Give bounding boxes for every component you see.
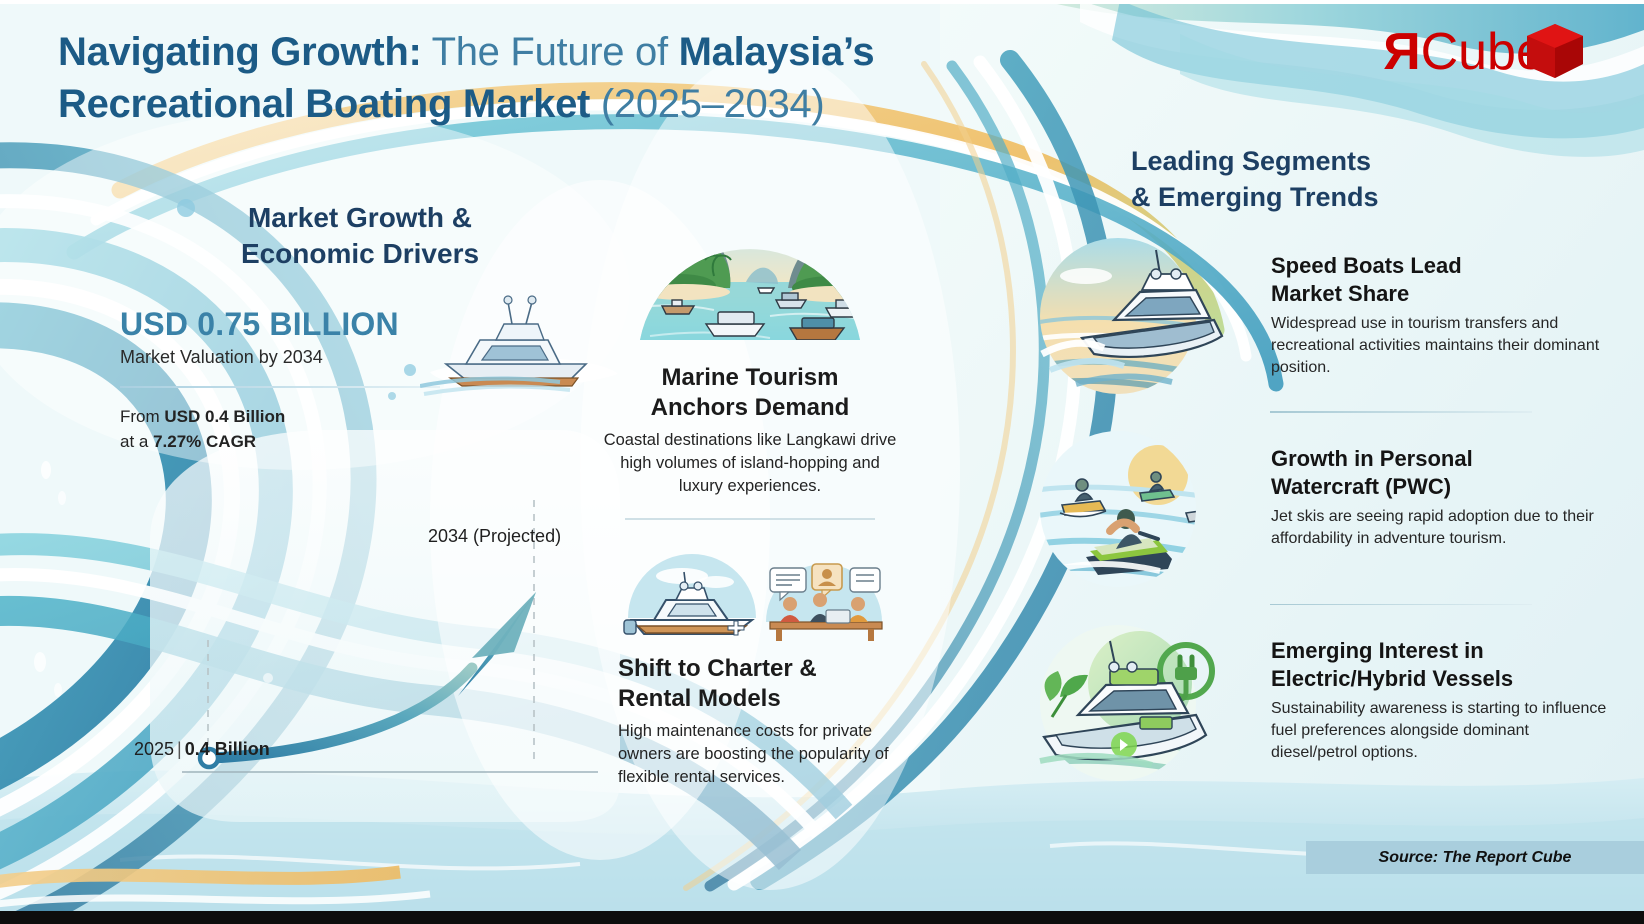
left-section-title-line2: Economic Drivers — [120, 236, 600, 272]
trend-item-speed-boats: Speed Boats Lead Market Share Widespread… — [990, 228, 1610, 403]
right-section: Speed Boats Lead Market Share Widespread… — [990, 228, 1610, 788]
trend-1-title: Speed Boats Lead Market Share — [1271, 252, 1610, 308]
baseline-value-line: From USD 0.4 Billion — [120, 404, 600, 429]
title-part-normal-1: The Future of — [422, 30, 679, 74]
trend-1-title-line1: Speed Boats Lead — [1271, 252, 1610, 280]
title-part-bold-2: Malaysia’s — [679, 30, 875, 74]
chart-start-year: 2025 — [134, 739, 174, 759]
trend-1-text: Speed Boats Lead Market Share Widespread… — [1245, 228, 1610, 379]
trend-3-body: Sustainability awareness is starting to … — [1271, 698, 1610, 764]
middle-card-1-title-line2: Anchors Demand — [600, 393, 900, 423]
electric-hybrid-boat-icon — [990, 613, 1245, 788]
middle-card-2-title: Shift to Charter & Rental Models — [618, 654, 900, 714]
middle-card-1-body: Coastal destinations like Langkawi drive… — [600, 429, 900, 498]
title-part-bold-3: Recreational Boating Market — [58, 82, 590, 126]
cagr-line: at a 7.27% CAGR — [120, 429, 600, 454]
source-badge: Source: The Report Cube — [1306, 841, 1644, 874]
right-section-title-line1: Leading Segments — [1131, 143, 1379, 179]
left-section-title-line1: Market Growth & — [120, 200, 600, 236]
middle-card-1-title-line1: Marine Tourism — [600, 363, 900, 393]
trend-item-personal-watercraft: Growth in Personal Watercraft (PWC) Jet … — [990, 421, 1610, 596]
trend-2-title-line1: Growth in Personal — [1271, 445, 1610, 473]
middle-section: Marine Tourism Anchors Demand Coastal de… — [600, 190, 900, 789]
title-line-1: Navigating Growth: The Future of Malaysi… — [58, 26, 1078, 78]
top-edge — [0, 0, 1644, 4]
title-line-2: Recreational Boating Market (2025–2034) — [58, 78, 1078, 130]
left-divider — [120, 386, 440, 388]
middle-card-2-body: High maintenance costs for private owner… — [618, 720, 900, 789]
red-cube-icon — [1523, 20, 1587, 84]
chart-label-separator: | — [174, 739, 185, 759]
growth-chart: 2034 (Projected) 2025|0.4 Billion — [120, 500, 620, 800]
middle-divider — [625, 518, 875, 520]
bottom-bar — [0, 911, 1644, 924]
right-section-title: Leading Segments & Emerging Trends — [1131, 143, 1379, 215]
right-divider-2 — [1270, 604, 1532, 606]
luxury-yacht-icon — [420, 268, 620, 398]
island-hopping-boats-icon — [610, 190, 890, 355]
infographic-canvas: Navigating Growth: The Future of Malaysi… — [0, 0, 1644, 924]
cagr-prefix: at a — [120, 432, 153, 451]
left-section-title: Market Growth & Economic Drivers — [120, 200, 600, 272]
brand-logo[interactable]: RCube — [1375, 16, 1615, 98]
cagr-value: 7.27% CAGR — [153, 432, 256, 451]
logo-reversed-r: R — [1383, 22, 1421, 82]
trend-1-body: Widespread use in tourism transfers and … — [1271, 313, 1610, 379]
middle-card-1-title: Marine Tourism Anchors Demand — [600, 363, 900, 423]
trend-3-title: Emerging Interest in Electric/Hybrid Ves… — [1271, 637, 1610, 693]
middle-card-2-title-line1: Shift to Charter & — [618, 654, 900, 684]
from-value: USD 0.4 Billion — [164, 407, 285, 426]
title-part-normal-2: (2025–2034) — [590, 82, 824, 126]
right-divider-1 — [1270, 411, 1532, 413]
title-part-bold-1: Navigating Growth: — [58, 30, 422, 74]
chart-label-2025: 2025|0.4 Billion — [134, 739, 270, 760]
chart-label-2034: 2034 (Projected) — [428, 526, 561, 547]
middle-card-charter: Shift to Charter & Rental Models High ma… — [600, 534, 900, 789]
logo-wordmark: RCube — [1383, 22, 1545, 82]
page-title: Navigating Growth: The Future of Malaysi… — [58, 26, 1078, 130]
trend-2-title-line2: Watercraft (PWC) — [1271, 473, 1610, 501]
speed-boat-icon — [990, 228, 1245, 403]
from-prefix: From — [120, 407, 164, 426]
trend-2-title: Growth in Personal Watercraft (PWC) — [1271, 445, 1610, 501]
trend-2-text: Growth in Personal Watercraft (PWC) Jet … — [1245, 421, 1610, 550]
right-section-title-line2: & Emerging Trends — [1131, 179, 1379, 215]
trend-3-text: Emerging Interest in Electric/Hybrid Ves… — [1245, 613, 1610, 764]
source-text: Source: The Report Cube — [1379, 849, 1572, 867]
trend-3-title-line2: Electric/Hybrid Vessels — [1271, 665, 1610, 693]
charter-boat-and-booking-team-icon — [610, 534, 895, 642]
trend-2-body: Jet skis are seeing rapid adoption due t… — [1271, 506, 1610, 550]
chart-start-value: 0.4 Billion — [185, 739, 270, 759]
middle-card-2-title-line2: Rental Models — [618, 684, 900, 714]
trend-3-title-line1: Emerging Interest in — [1271, 637, 1610, 665]
trend-1-title-line2: Market Share — [1271, 280, 1610, 308]
middle-card-marine-tourism: Marine Tourism Anchors Demand Coastal de… — [600, 190, 900, 498]
trend-item-electric-hybrid: Emerging Interest in Electric/Hybrid Ves… — [990, 613, 1610, 788]
jet-ski-riders-icon — [990, 421, 1245, 596]
